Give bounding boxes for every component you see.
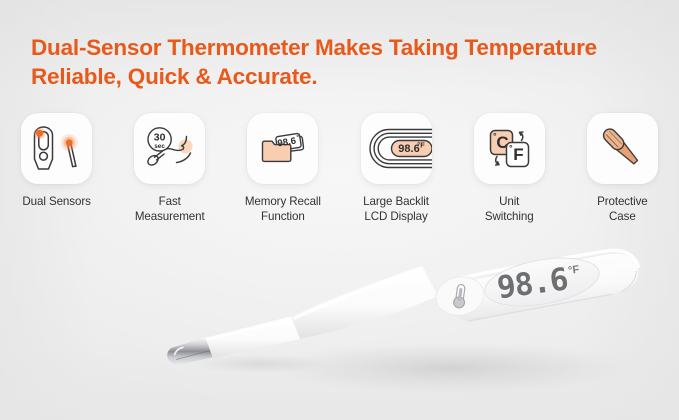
feature-item-memory-recall: 98.6 ° Memory RecallFunction [226,113,339,243]
page-title: Dual-Sensor Thermometer Makes Taking Tem… [31,33,651,91]
feature-label-protective-case: ProtectiveCase [597,194,648,224]
unit-switching-icon: C ° F ° [474,113,545,184]
headline-line-2: Reliable, Quick & Accurate. [31,62,651,91]
feature-item-dual-sensors: Dual Sensors [0,113,113,243]
infographic-canvas: Dual-Sensor Thermometer Makes Taking Tem… [0,0,679,420]
feature-list: Dual Sensors 30 [0,113,679,243]
svg-text:°: ° [509,143,513,153]
feature-label-fast-measurement: FastMeasurement [135,194,205,224]
lcd-display-icon: 98.6 °F [361,113,432,184]
feature-item-unit-switching: C ° F ° UnitSwitching [453,113,566,243]
feature-item-protective-case: ProtectiveCase [566,113,679,243]
lcd-unit: °F [568,264,581,277]
protective-case-icon [587,113,658,184]
feature-label-memory-recall: Memory RecallFunction [245,194,321,224]
unit-f-label: F [513,145,523,164]
feature-label-dual-sensors: Dual Sensors [22,194,90,209]
feature-item-fast-measurement: 30 sec FastMeasurement [113,113,226,243]
feature-label-lcd-display: Large BacklitLCD Display [363,194,429,224]
timer-value: 30 [154,131,166,143]
timer-unit: sec [154,143,165,150]
lcd-value: 98.6 [495,264,569,304]
headline-line-1: Dual-Sensor Thermometer Makes Taking Tem… [31,35,597,60]
svg-text:°: ° [493,131,497,141]
fast-measurement-icon: 30 sec [134,113,205,184]
feature-item-lcd-display: 98.6 °F Large BacklitLCD Display [339,113,452,243]
dual-sensor-icon [21,113,92,184]
memory-recall-icon: 98.6 ° [247,113,318,184]
feature-label-unit-switching: UnitSwitching [485,194,534,224]
lcd-icon-unit: °F [417,140,425,149]
